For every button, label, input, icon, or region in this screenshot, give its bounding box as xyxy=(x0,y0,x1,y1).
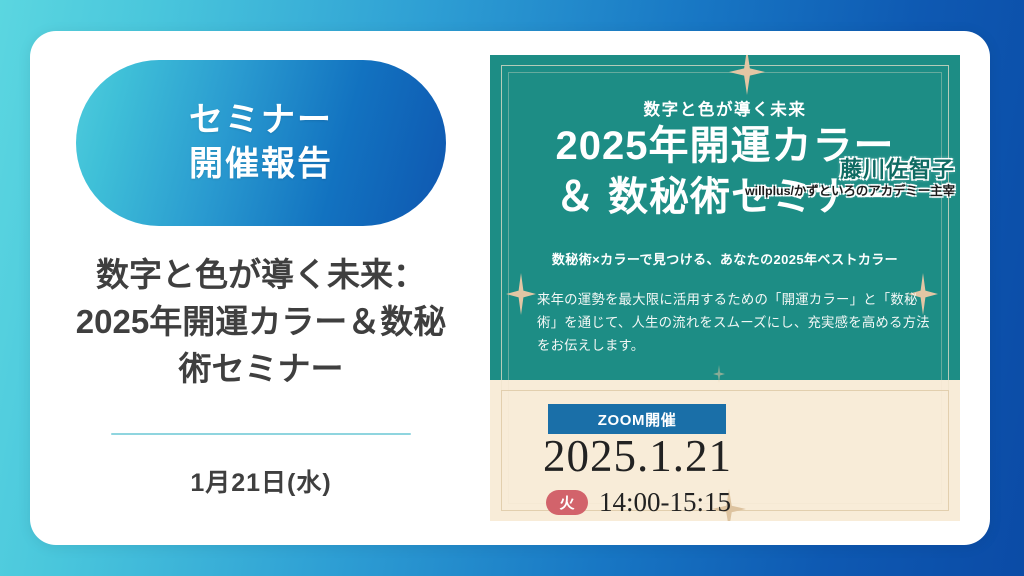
presenter-name: 藤川佐智子 xyxy=(779,152,955,184)
badge-line-2: 開催報告 xyxy=(189,143,333,187)
poster-time-range: 14:00-15:15 xyxy=(599,487,731,518)
poster-subtitle: 数秘術×カラーで見つける、あなたの2025年ベストカラー xyxy=(490,249,960,268)
badge-line-1: セミナー xyxy=(189,99,333,143)
page-title: 数字と色が導く未来：2025年開運カラー＆数秘術セミナー xyxy=(61,252,461,393)
event-date-label: 1月21日(水) xyxy=(190,463,331,499)
zoom-badge: ZOOM開催 xyxy=(548,404,726,434)
poster-event-date: 2025.1.21 xyxy=(543,433,732,481)
day-of-week-badge: 火 xyxy=(546,490,588,515)
divider xyxy=(111,433,411,435)
main-card: セミナー 開催報告 数字と色が導く未来：2025年開運カラー＆数秘術セミナー 1… xyxy=(30,31,990,545)
left-panel: セミナー 開催報告 数字と色が導く未来：2025年開運カラー＆数秘術セミナー 1… xyxy=(30,31,492,545)
seminar-report-badge: セミナー 開催報告 xyxy=(76,60,446,226)
presenter-role: willplus/かずといろのアカデミー主宰 xyxy=(715,181,955,199)
poster-description: 来年の運勢を最大限に活用するための「開運カラー」と「数秘術」を通じて、人生の流れ… xyxy=(537,288,930,357)
poster-time-row: 火 14:00-15:15 xyxy=(546,487,731,518)
seminar-poster: 数字と色が導く未来 2025年開運カラー ＆ 数秘術セミナー 数秘術×カラーで見… xyxy=(490,55,960,521)
